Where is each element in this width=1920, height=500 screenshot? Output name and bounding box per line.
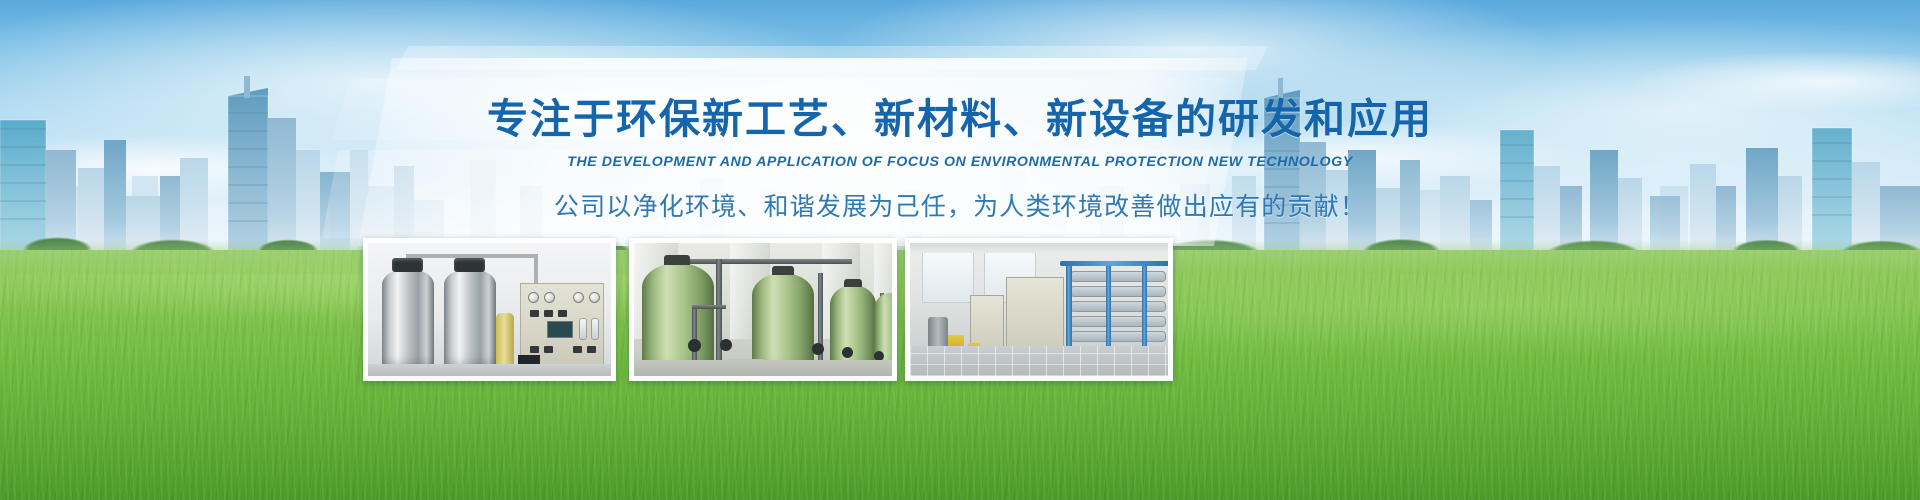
hero-banner: 专注于环保新工艺、新材料、新设备的研发和应用 THE DEVELOPMENT A… bbox=[0, 0, 1920, 500]
banner-subheadline: THE DEVELOPMENT AND APPLICATION OF FOCUS… bbox=[0, 154, 1920, 170]
product-photo-stainless-skid[interactable] bbox=[363, 238, 616, 381]
product-photo-strip bbox=[0, 238, 1920, 388]
banner-tagline: 公司以净化环境、和谐发展为己任，为人类环境改善做出应有的贡献！ bbox=[0, 187, 1920, 223]
product-photo-ro-hall[interactable] bbox=[905, 238, 1173, 381]
banner-headline: 专注于环保新工艺、新材料、新设备的研发和应用 bbox=[0, 95, 1920, 143]
banner-copy: 专注于环保新工艺、新材料、新设备的研发和应用 THE DEVELOPMENT A… bbox=[0, 95, 1920, 223]
product-photo-frp-vessels[interactable] bbox=[629, 238, 897, 381]
